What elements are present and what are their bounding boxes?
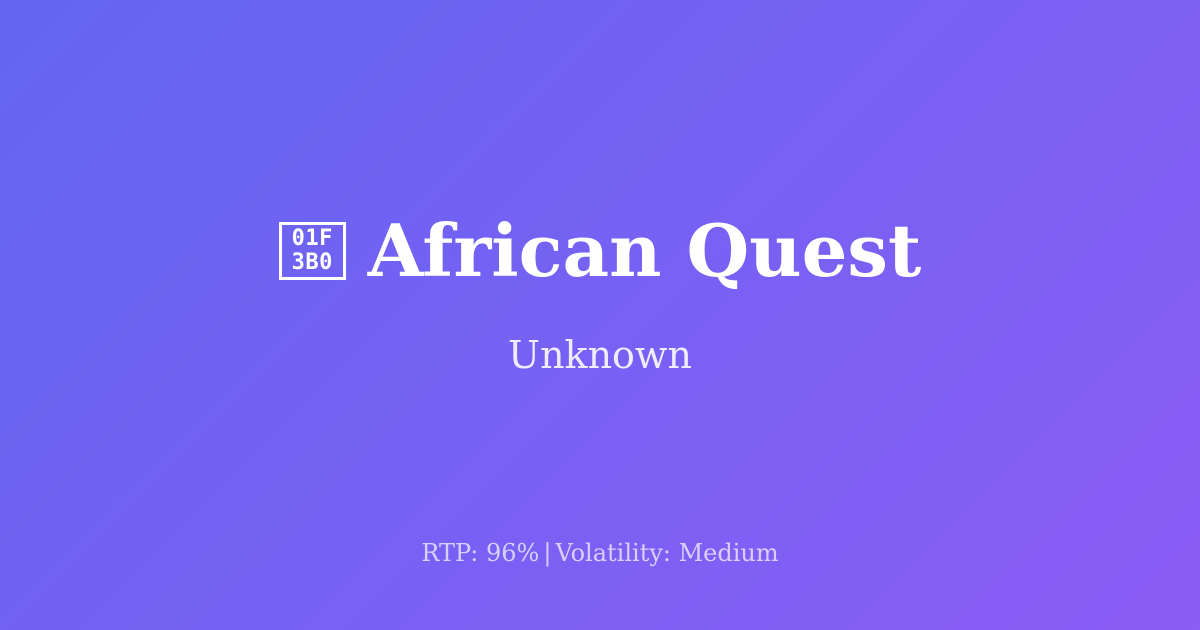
- tofu-codepoint-bottom: 3B0: [292, 251, 333, 275]
- tofu-codepoint-top: 01F: [292, 227, 333, 251]
- game-meta-line: RTP: 96%|Volatility: Medium: [0, 539, 1200, 568]
- rtp-label: RTP: 96%: [421, 539, 539, 567]
- meta-separator: |: [539, 539, 555, 567]
- game-provider: Unknown: [508, 333, 692, 379]
- title-row: 01F 3B0 African Quest: [279, 213, 921, 289]
- game-title: African Quest: [368, 213, 921, 289]
- game-hero-card: 01F 3B0 African Quest Unknown: [0, 0, 1200, 630]
- volatility-label: Volatility: Medium: [555, 539, 778, 567]
- slot-machine-icon: 01F 3B0: [279, 222, 346, 280]
